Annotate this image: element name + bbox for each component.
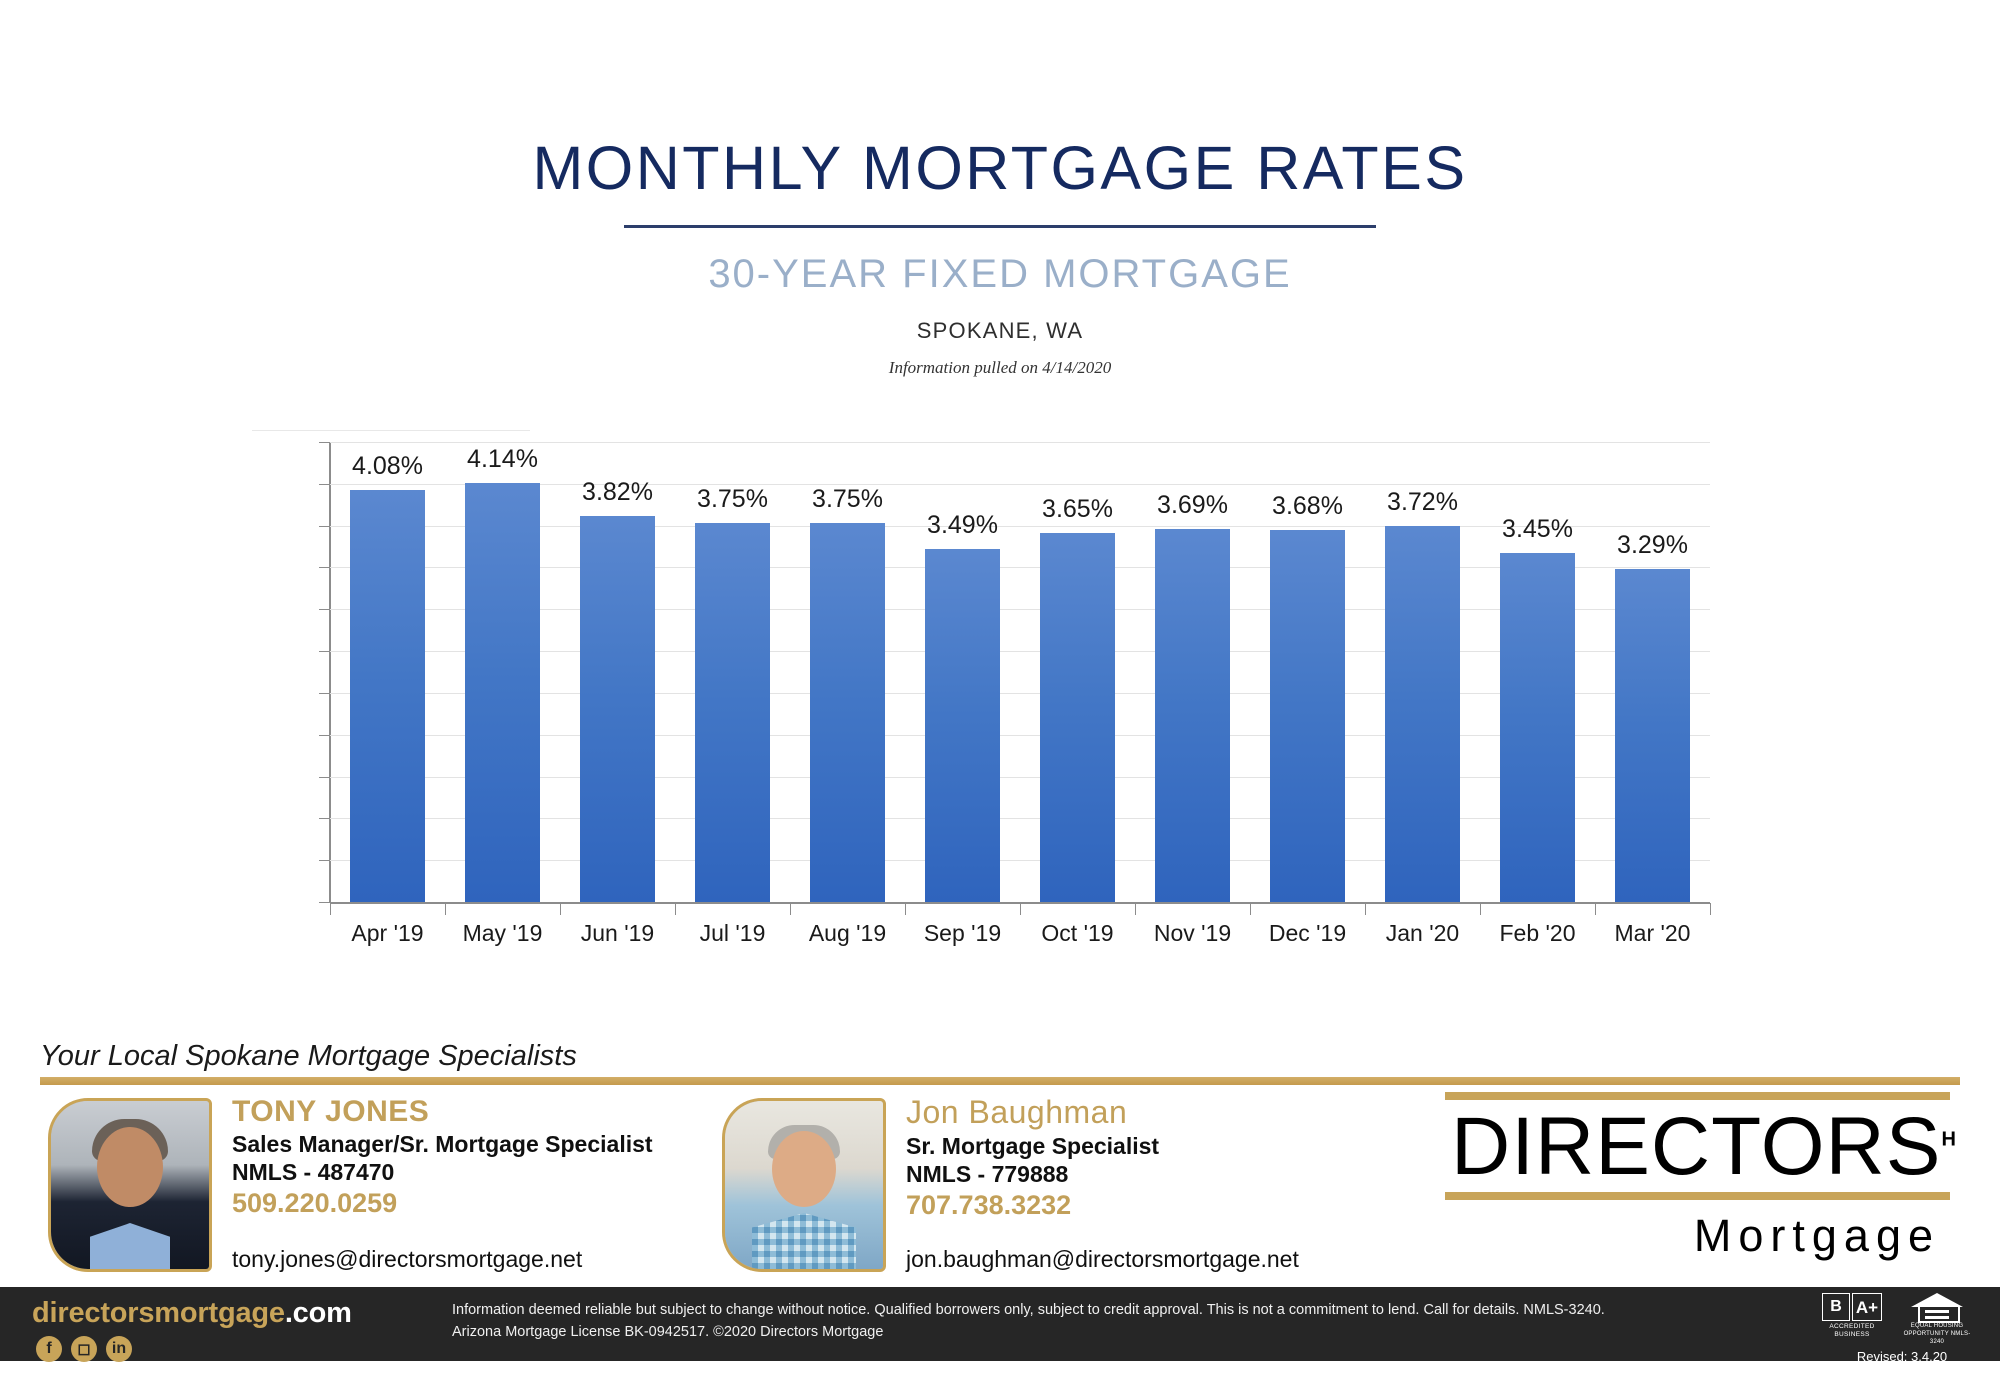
logo-word-text: DIRECTORS	[1451, 1101, 1941, 1192]
logo-subword: Mortgage	[1445, 1210, 1950, 1262]
y-axis-tick	[319, 567, 330, 568]
agent-name: TONY JONES	[232, 1096, 702, 1128]
bar-value-label: 3.75%	[778, 487, 918, 512]
disclaimer-line-1: Information deemed reliable but subject …	[452, 1300, 1772, 1322]
agent-phone[interactable]: 509.220.0259	[232, 1187, 702, 1220]
agent-email[interactable]: tony.jones@directorsmortgage.net	[232, 1246, 582, 1273]
tagline: Your Local Spokane Mortgage Specialists	[40, 1042, 577, 1071]
gridline	[330, 442, 1710, 443]
bbb-logo-mark: B	[1822, 1293, 1850, 1321]
y-axis-tick	[319, 693, 330, 694]
gold-divider	[40, 1077, 1960, 1085]
instagram-icon[interactable]: ◻	[71, 1336, 97, 1362]
agent-email[interactable]: jon.baughman@directorsmortgage.net	[906, 1246, 1299, 1273]
y-axis-tick	[319, 902, 330, 903]
website-tld: .com	[285, 1297, 352, 1329]
bar	[1040, 533, 1116, 902]
bar	[695, 523, 771, 902]
agent-phone[interactable]: 707.738.3232	[906, 1189, 1376, 1222]
x-axis-tick	[1250, 903, 1251, 915]
y-axis-tick	[319, 818, 330, 819]
agent-role: Sales Manager/Sr. Mortgage Specialist	[232, 1130, 702, 1158]
bar	[1155, 529, 1231, 902]
website-link[interactable]: directorsmortgage.com	[32, 1299, 352, 1328]
eho-caption: EQUAL HOUSING OPPORTUNITY NMLS-3240	[1898, 1323, 1976, 1346]
bar-value-label: 3.72%	[1353, 490, 1493, 515]
x-axis-tick	[1710, 903, 1711, 915]
logo-bottom-rule	[1445, 1192, 1950, 1200]
page-subtitle: 30-YEAR FIXED MORTGAGE	[0, 254, 2000, 294]
social-links: f ◻ in	[36, 1336, 132, 1362]
agent-role: Sr. Mortgage Specialist	[906, 1132, 1376, 1160]
bar-value-label: 4.14%	[433, 447, 573, 472]
website-name: directorsmortgage	[32, 1297, 285, 1329]
bar	[1500, 553, 1576, 902]
bar	[1385, 526, 1461, 902]
x-axis-tick	[1020, 903, 1021, 915]
bar	[1270, 530, 1346, 902]
linkedin-icon[interactable]: in	[106, 1336, 132, 1362]
title-divider	[624, 225, 1376, 228]
y-axis-tick	[319, 860, 330, 861]
x-axis-label: Mar '20	[1583, 922, 1723, 945]
logo-wordmark: DIRECTORSH	[1451, 1104, 1950, 1190]
y-axis-tick	[319, 484, 330, 485]
x-axis-tick	[1595, 903, 1596, 915]
agent-name: Jon Baughman	[906, 1096, 1376, 1130]
facebook-icon[interactable]: f	[36, 1336, 62, 1362]
bar-value-label: 3.29%	[1583, 533, 1723, 558]
agent-photo	[722, 1098, 886, 1272]
disclaimer-text: Information deemed reliable but subject …	[452, 1300, 1772, 1344]
bar	[810, 523, 886, 902]
x-axis-tick	[1480, 903, 1481, 915]
x-axis-tick	[1365, 903, 1366, 915]
compliance-badges: B A+ ACCREDITED BUSINESS EQUAL HOUSING O…	[1822, 1293, 1982, 1364]
agent-details: TONY JONES Sales Manager/Sr. Mortgage Sp…	[232, 1096, 702, 1220]
top-gridline-stub	[252, 430, 530, 431]
y-axis-tick	[319, 526, 330, 527]
bbb-accredited-icon: B A+ ACCREDITED BUSINESS	[1822, 1293, 1882, 1339]
y-axis-tick	[319, 609, 330, 610]
y-axis-tick	[319, 777, 330, 778]
x-axis-tick	[330, 903, 331, 915]
revised-date: Revised: 3.4.20	[1822, 1349, 1982, 1364]
x-axis-tick	[790, 903, 791, 915]
bbb-caption: ACCREDITED BUSINESS	[1822, 1323, 1882, 1339]
disclaimer-line-2: Arizona Mortgage License BK-0942517. ©20…	[452, 1322, 1772, 1344]
chart-plot-area: 4.08%Apr '194.14%May '193.82%Jun '193.75…	[330, 442, 1710, 902]
equal-housing-opportunity-icon: EQUAL HOUSING OPPORTUNITY NMLS-3240	[1898, 1293, 1976, 1346]
y-axis-tick	[319, 735, 330, 736]
footer-bar: directorsmortgage.com f ◻ in Information…	[0, 1287, 2000, 1361]
bar	[465, 483, 541, 902]
x-axis-tick	[675, 903, 676, 915]
header: MONTHLY MORTGAGE RATES 30-YEAR FIXED MOR…	[0, 0, 2000, 376]
y-axis-tick	[319, 442, 330, 443]
agent-nmls: NMLS - 779888	[906, 1160, 1376, 1188]
agent-nmls: NMLS - 487470	[232, 1158, 702, 1186]
mortgage-rate-bar-chart: 4.08%Apr '194.14%May '193.82%Jun '193.75…	[330, 442, 1710, 902]
location-label: SPOKANE, WA	[0, 320, 2000, 342]
directors-mortgage-logo: DIRECTORSH Mortgage	[1445, 1092, 1950, 1262]
y-axis-tick	[319, 651, 330, 652]
bar	[925, 549, 1001, 902]
agent-details: Jon Baughman Sr. Mortgage Specialist NML…	[906, 1096, 1376, 1222]
y-axis-line	[329, 442, 331, 902]
page-title: MONTHLY MORTGAGE RATES	[0, 138, 2000, 199]
data-pulled-date: Information pulled on 4/14/2020	[0, 359, 2000, 376]
bar	[350, 490, 426, 902]
logo-superscript: H	[1941, 1129, 1955, 1151]
bar	[1615, 569, 1691, 902]
agent-photo	[48, 1098, 212, 1272]
bbb-rating: A+	[1852, 1293, 1882, 1321]
x-axis-tick	[560, 903, 561, 915]
x-axis-tick	[905, 903, 906, 915]
logo-top-rule	[1445, 1092, 1950, 1100]
bar	[580, 516, 656, 902]
x-axis-tick	[1135, 903, 1136, 915]
x-axis-tick	[445, 903, 446, 915]
